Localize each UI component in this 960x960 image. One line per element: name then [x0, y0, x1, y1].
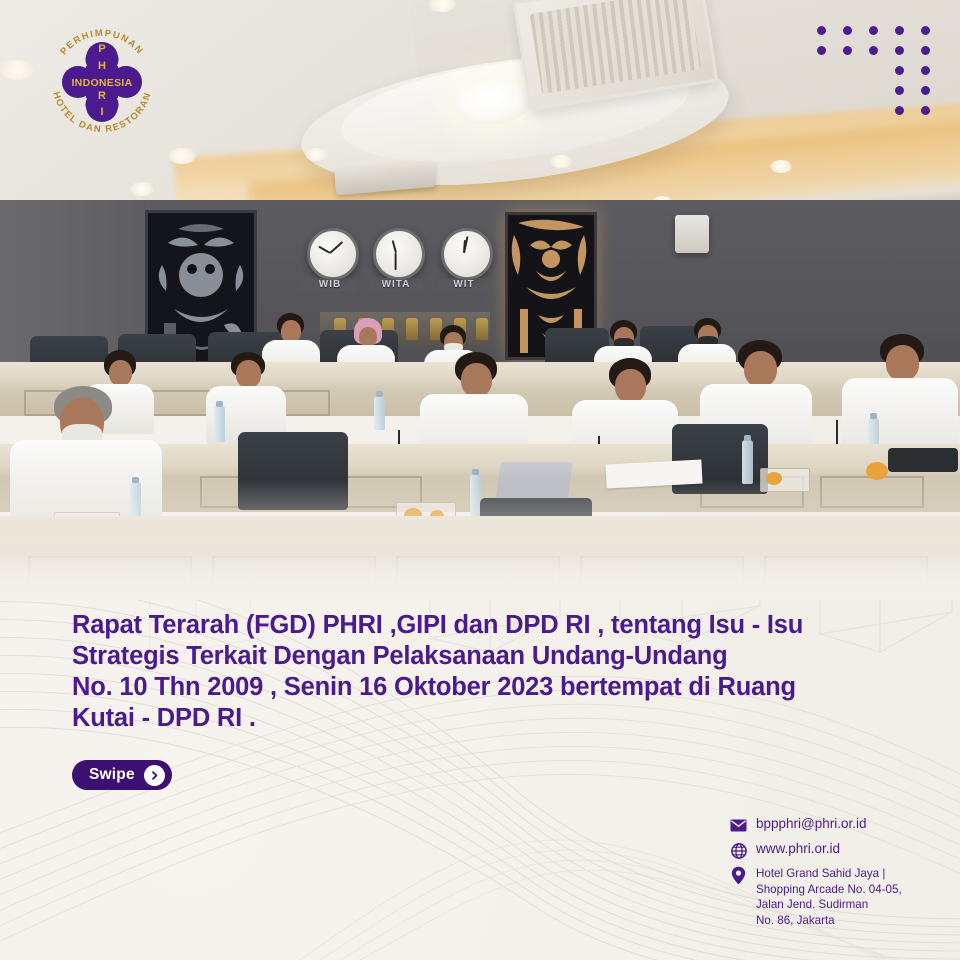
headline-line: No. 10 Thn 2009 , Senin 16 Oktober 2023 …: [72, 672, 902, 703]
logo-initial-h: H: [98, 60, 106, 72]
downlight: [0, 60, 34, 80]
address-line: Hotel Grand Sahid Jaya |: [756, 867, 885, 880]
logo-initial-r: R: [98, 90, 106, 102]
globe-icon: [730, 842, 747, 859]
downlight: [305, 148, 327, 161]
decorative-dot-grid: [808, 22, 938, 122]
dot-row: [808, 102, 938, 122]
address-line: No. 86, Jakarta: [756, 914, 835, 927]
contact-address-row: Hotel Grand Sahid Jaya | Shopping Arcade…: [730, 866, 945, 928]
address-line: Shopping Arcade No. 04-05,: [756, 883, 902, 896]
wall-speaker: [675, 215, 709, 253]
social-media-post: WIB WITA WIT: [0, 0, 960, 960]
wall-clock-wit: [441, 228, 493, 280]
dot-row: [808, 82, 938, 102]
contact-address-value: Hotel Grand Sahid Jaya | Shopping Arcade…: [756, 866, 902, 928]
dot-row: [808, 42, 938, 62]
photo-bottom-fade: [0, 480, 960, 600]
contact-email-row[interactable]: bppphri@phri.or.id: [730, 816, 945, 834]
downlight: [550, 155, 572, 168]
clock-label-wib: WIB: [303, 278, 357, 291]
logo-center-text: INDONESIA: [71, 77, 132, 89]
phri-logo: P H R I INDONESIA PERHIMPUNAN HOTEL DAN …: [42, 22, 162, 142]
envelope-icon: [730, 817, 747, 834]
wall-clock-wita: [373, 228, 425, 280]
headline-line: Kutai - DPD RI .: [72, 703, 902, 734]
downlight: [168, 148, 196, 164]
contact-block: bppphri@phri.or.id www.phri.or.id: [730, 816, 945, 935]
address-line: Jalan Jend. Sudirman: [756, 898, 868, 911]
swipe-button[interactable]: Swipe: [72, 760, 172, 790]
map-pin-icon: [730, 867, 747, 884]
downlight: [770, 160, 792, 173]
dot-row: [808, 22, 938, 42]
logo-initial-p: P: [98, 43, 105, 55]
device: [888, 448, 958, 472]
contact-email-value: bppphri@phri.or.id: [756, 816, 867, 832]
downlight: [130, 182, 154, 196]
post-headline: Rapat Terarah (FGD) PHRI ,GIPI dan DPD R…: [72, 610, 902, 734]
clock-label-wit: WIT: [437, 278, 491, 291]
swipe-button-label: Swipe: [89, 766, 135, 784]
contact-website-row[interactable]: www.phri.or.id: [730, 841, 945, 859]
clock-label-wita: WITA: [369, 278, 423, 291]
chevron-right-icon: [144, 765, 165, 786]
wall-clock-wib: [307, 228, 359, 280]
headline-line: Rapat Terarah (FGD) PHRI ,GIPI dan DPD R…: [72, 610, 902, 641]
headline-line: Strategis Terkait Dengan Pelaksanaan Und…: [72, 641, 902, 672]
contact-website-value: www.phri.or.id: [756, 841, 840, 857]
dot-row: [808, 62, 938, 82]
logo-initial-i: I: [100, 106, 103, 118]
